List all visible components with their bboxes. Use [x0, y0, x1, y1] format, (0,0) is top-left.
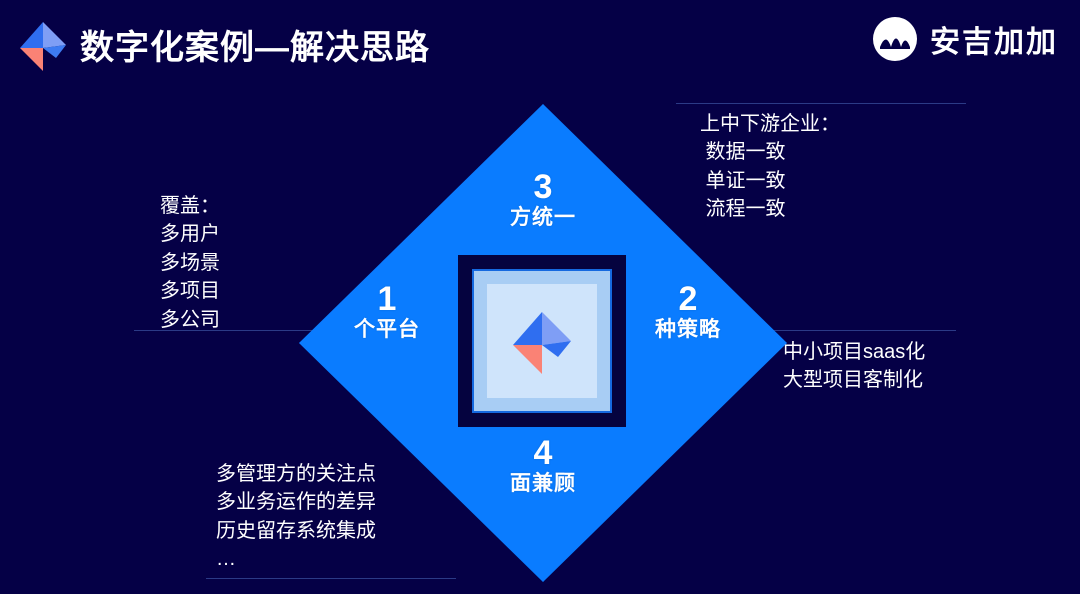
center-frame-inner	[487, 284, 597, 398]
petal-number-left: 1	[317, 280, 457, 318]
petal-number-top: 3	[473, 168, 613, 206]
petal-text-bottom: 面兼顾	[473, 472, 613, 496]
petal-number-bottom: 4	[473, 434, 613, 472]
anji-jiajia-circle-logo-icon	[872, 16, 918, 62]
note-strategy-right: 中小项目saas化 大型项目客制化	[783, 338, 925, 395]
petal-label-bottom: 4 面兼顾	[473, 434, 613, 496]
angel-arrow-logo-icon	[503, 302, 581, 380]
petal-label-left: 1 个平台	[317, 280, 457, 342]
note-coverage-left: 覆盖： 多用户 多场景 多项目 多公司	[160, 192, 220, 334]
angel-arrow-logo-icon	[12, 14, 74, 76]
center-frame-outer	[472, 269, 612, 413]
brand-name: 安吉加加	[930, 17, 1058, 61]
petal-text-right: 种策略	[613, 318, 763, 342]
petal-text-left: 个平台	[317, 318, 457, 342]
petal-label-top: 3 方统一	[473, 168, 613, 230]
slide-canvas: 数字化案例—解决思路 安吉加加 3 方统一	[0, 0, 1080, 594]
petal-label-right: 2 种策略	[613, 280, 763, 342]
center-logo-frame	[458, 255, 626, 427]
petal-text-top: 方统一	[473, 206, 613, 230]
connector-line-right	[766, 330, 956, 331]
petal-number-right: 2	[613, 280, 763, 318]
note-concerns-bottom-left: 多管理方的关注点 多业务运作的差异 历史留存系统集成 …	[216, 460, 376, 574]
brand-lockup: 安吉加加	[872, 16, 1058, 62]
note-upstream-downstream-top-right: 上中下游企业： 数据一致 单证一致 流程一致	[700, 110, 840, 224]
page-title: 数字化案例—解决思路	[80, 20, 430, 69]
